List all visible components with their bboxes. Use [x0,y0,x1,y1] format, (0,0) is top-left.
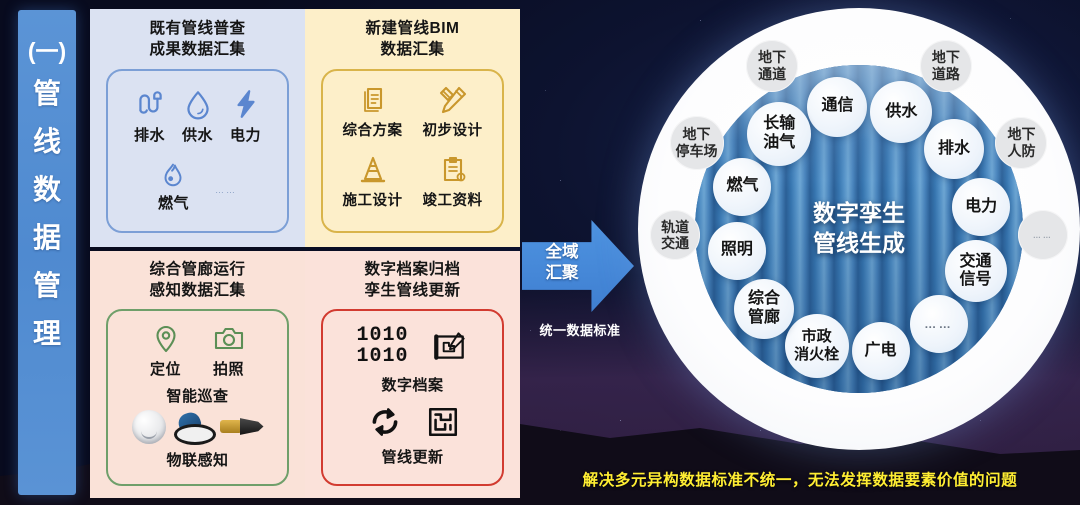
section-title-char-1: 管 [33,80,61,108]
drainage-icon [133,87,167,121]
brass-sensor-icon [220,416,264,438]
arrow-label: 全域 汇聚 [530,242,594,283]
panel-4-content-box: 1010 1010 数字档案 [321,309,504,486]
outer-bubble-3[interactable]: 地下停车场 [670,116,724,170]
item-smart-inspection-label: 智能巡查 [108,385,287,406]
inner-bubble-1[interactable]: 通信 [807,77,867,137]
inner-bubble-label: 照明 [721,241,753,260]
item-positioning[interactable]: 定位 [150,323,182,379]
blue-sensor-icon [172,413,214,441]
panel-1-content-box: 排水 供水 电力 [106,69,289,233]
panel-utility-tunnel-sensing[interactable]: 综合管廊运行 感知数据汇集 定位 [90,251,305,498]
panel-4-title: 数字档案归档 孪生管线更新 [305,251,520,302]
inner-bubble-label: 电力 [965,198,997,217]
item-water-supply-label: 供水 [182,124,213,145]
inner-bubble-label: 供水 [885,103,917,122]
item-water-supply[interactable]: 供水 [181,87,215,145]
binary-code-icon: 1010 1010 [356,325,408,367]
inner-bubble-8[interactable]: 市政消火栓 [785,314,849,378]
inner-bubble-label: 燃气 [726,177,758,196]
item-comprehensive-plan[interactable]: 综合方案 [343,84,403,140]
inner-bubble-7[interactable]: 广电 [852,322,910,380]
lightning-bolt-icon [229,87,263,121]
outer-bubble-label: 轨道交通 [661,219,689,252]
arrow-sublabel: 统一数据标准 [520,320,640,339]
iot-devices-photo [108,410,287,444]
inner-bubble-3[interactable]: 排水 [924,119,984,179]
item-photography[interactable]: 拍照 [212,323,246,379]
item-completion-records-label: 竣工资料 [423,189,483,210]
inner-bubble-label: 长输油气 [763,115,795,153]
outer-bubble-6[interactable]: …… [1018,210,1068,260]
section-number: (一) [28,32,66,66]
panel-2-title: 新建管线BIM 数据汇集 [305,9,520,61]
digital-twin-circle-diagram: 数字孪生 管线生成 地下通道地下道路地下停车场地下人防轨道交通……通信供水排水电… [638,8,1080,450]
location-pin-icon [150,323,182,355]
panel-new-pipeline-bim[interactable]: 新建管线BIM 数据汇集 综合方案 [305,9,520,247]
outer-bubble-4[interactable]: 地下人防 [995,117,1047,169]
slide-canvas: (一) 管 线 数 据 管 理 既有管线普查 成果数据汇集 [0,0,1080,505]
inner-bubble-label: 市政消火栓 [794,328,839,363]
traffic-cone-icon [357,154,389,186]
inner-bubble-label: 交通信号 [960,253,992,291]
inner-bubble-label: 综合管廊 [748,290,780,328]
panel-1-title: 既有管线普查 成果数据汇集 [90,9,305,61]
flame-icon [158,159,188,189]
outer-bubble-label: 地下人防 [1007,126,1035,159]
inner-bubble-12[interactable]: 长输油气 [747,102,811,166]
item-preliminary-design[interactable]: 初步设计 [423,84,483,140]
section-title-bar: (一) 管 线 数 据 管 理 [18,10,76,495]
inner-bubble-10[interactable]: 照明 [708,222,766,280]
inner-bubble-label: 广电 [865,342,897,361]
item-construction-design-label: 施工设计 [343,189,403,210]
outer-bubble-label: 地下停车场 [676,126,718,159]
ellipsis-icon: …… [215,185,237,195]
item-comprehensive-plan-label: 综合方案 [343,119,403,140]
item-preliminary-design-label: 初步设计 [423,119,483,140]
item-drainage-label: 排水 [134,124,165,145]
center-label: 数字孪生 管线生成 [813,199,905,259]
section-title-char-5: 管 [33,272,61,300]
item-pipeline-update-label: 管线更新 [323,446,502,467]
section-title-char-2: 线 [33,128,61,156]
pipeline-maze-icon [426,405,460,439]
section-title-char-4: 据 [33,224,61,252]
item-photography-label: 拍照 [213,358,244,379]
camera-icon [212,323,246,355]
item-electricity[interactable]: 电力 [229,87,263,145]
clipboard-icon [437,154,469,186]
water-drop-icon [181,87,215,121]
section-title-char-3: 数 [33,176,61,204]
item-drainage[interactable]: 排水 [133,87,167,145]
outer-bubble-2[interactable]: 地下道路 [920,40,972,92]
item-positioning-label: 定位 [150,358,181,379]
outer-bubble-1[interactable]: 地下通道 [746,40,798,92]
item-digital-archive-label: 数字档案 [323,374,502,395]
document-icon [357,84,389,116]
item-more-panel1: …… [215,177,237,195]
outer-bubble-label: 地下通道 [758,49,786,82]
refresh-cycle-icon [366,405,404,439]
flow-arrow: 全域 汇聚 统一数据标准 [522,220,640,340]
outer-bubble-label: 地下道路 [932,49,960,82]
inner-bubble-label: 通信 [821,97,853,116]
panel-grid: 既有管线普查 成果数据汇集 排水 [90,9,520,498]
bottom-caption: 解决多元异构数据标准不统一，无法发挥数据要素价值的问题 [520,468,1080,490]
panel-2-content-box: 综合方案 初步设计 [321,69,504,233]
item-construction-design[interactable]: 施工设计 [343,154,403,210]
item-gas-label: 燃气 [158,192,189,213]
ellipsis-icon: …… [1033,231,1053,240]
panel-3-title: 综合管廊运行 感知数据汇集 [90,251,305,302]
inner-bubble-5[interactable]: 交通信号 [945,240,1007,302]
section-title-char-6: 理 [33,320,61,348]
inner-bubble-9[interactable]: 综合管廊 [734,279,794,339]
ellipsis-icon: …… [924,317,953,331]
inner-bubble-11[interactable]: 燃气 [713,158,771,216]
item-iot-sensing-label: 物联感知 [108,449,287,470]
panel-3-content-box: 定位 拍照 智能巡查 物联感知 [106,309,289,486]
item-completion-records[interactable]: 竣工资料 [423,154,483,210]
blueprint-pencil-icon [431,329,469,363]
inner-bubble-label: 排水 [938,140,970,159]
item-electricity-label: 电力 [230,124,261,145]
item-gas[interactable]: 燃气 [158,159,189,213]
panel-digital-archive-update[interactable]: 数字档案归档 孪生管线更新 1010 1010 数字档案 [305,251,520,498]
smoke-detector-icon [132,410,166,444]
inner-bubble-6[interactable]: …… [910,295,968,353]
ruler-pencil-icon [437,84,469,116]
panel-existing-pipeline-survey[interactable]: 既有管线普查 成果数据汇集 排水 [90,9,305,247]
